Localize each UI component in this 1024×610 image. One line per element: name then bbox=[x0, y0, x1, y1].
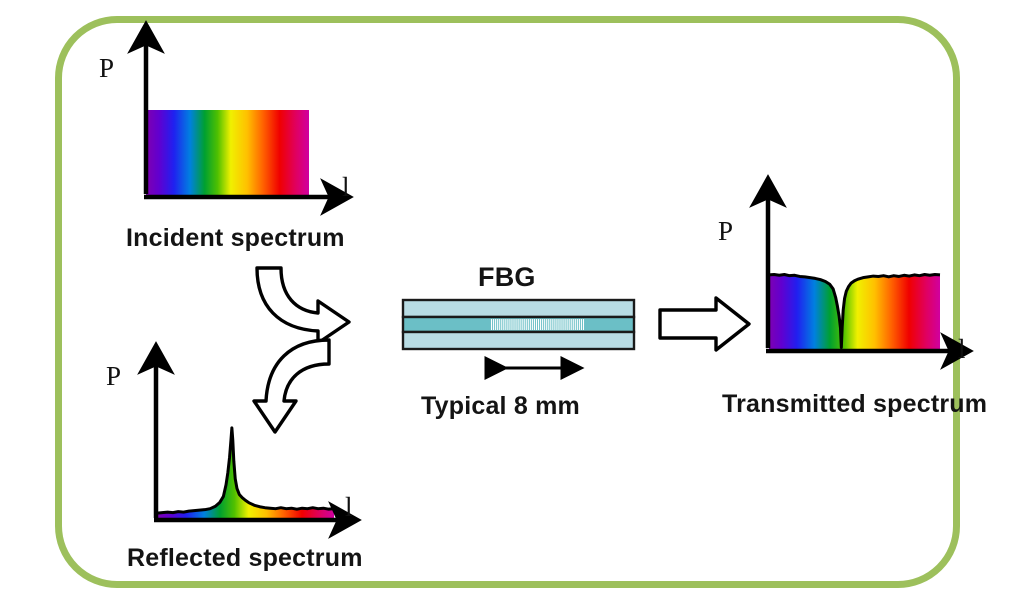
chart-incident-spectrum bbox=[144, 44, 330, 197]
reflected-power-axis-label: P bbox=[106, 361, 121, 392]
arrow-fbg-to-transmitted bbox=[660, 298, 749, 350]
grating-stripe bbox=[534, 319, 535, 330]
reflected-spectrum-curve bbox=[157, 428, 334, 513]
incident-wavelength-axis-label: l bbox=[342, 172, 350, 203]
grating-stripe bbox=[552, 319, 553, 330]
grating-stripe bbox=[573, 319, 574, 330]
transmitted-wavelength-axis-label: l bbox=[958, 334, 966, 365]
fbg-title-label: FBG bbox=[478, 262, 536, 293]
grating-stripe bbox=[583, 319, 584, 330]
grating-stripe bbox=[516, 319, 517, 330]
incident-power-axis-label: P bbox=[99, 53, 114, 84]
grating-stripe bbox=[522, 319, 523, 330]
grating-stripe bbox=[526, 319, 527, 330]
transmitted-power-axis-label: P bbox=[718, 216, 733, 247]
grating-stripe bbox=[493, 319, 494, 330]
grating-stripe bbox=[511, 319, 512, 330]
fbg-cladding-bottom bbox=[403, 332, 634, 349]
grating-stripe bbox=[505, 319, 506, 330]
fbg-length-label: Typical 8 mm bbox=[421, 392, 580, 421]
grating-stripe bbox=[540, 319, 541, 330]
grating-stripe bbox=[499, 319, 500, 330]
grating-stripe bbox=[558, 319, 559, 330]
grating-stripe bbox=[518, 319, 519, 330]
reflected-spectrum-label: Reflected spectrum bbox=[127, 544, 363, 573]
fbg-cladding-top bbox=[403, 300, 634, 317]
grating-stripe bbox=[536, 319, 537, 330]
grating-stripe bbox=[577, 319, 578, 330]
figure-canvas: P l Incident spectrum P l Reflected spec… bbox=[0, 0, 1024, 610]
grating-stripe bbox=[520, 319, 521, 330]
grating-stripe bbox=[542, 319, 543, 330]
grating-stripe bbox=[571, 319, 572, 330]
grating-stripe bbox=[501, 319, 502, 330]
grating-stripe bbox=[528, 319, 529, 330]
grating-stripe bbox=[550, 319, 551, 330]
reflected-spectrum-fill bbox=[156, 420, 334, 520]
grating-stripe bbox=[491, 319, 492, 330]
grating-stripe bbox=[546, 319, 547, 330]
grating-stripe bbox=[579, 319, 580, 330]
incident-spectrum-label: Incident spectrum bbox=[126, 224, 345, 253]
chart-transmitted-spectrum bbox=[766, 198, 950, 351]
diagram-graphics bbox=[0, 0, 1024, 610]
grating-stripe bbox=[530, 319, 531, 330]
reflected-wavelength-axis-label: l bbox=[345, 492, 353, 523]
grating-stripe bbox=[524, 319, 525, 330]
grating-stripe bbox=[563, 319, 564, 330]
incident-spectrum-area bbox=[146, 110, 309, 197]
grating-stripe bbox=[513, 319, 514, 330]
grating-stripe bbox=[497, 319, 498, 330]
grating-stripe bbox=[538, 319, 539, 330]
chart-reflected-spectrum bbox=[154, 365, 338, 520]
arrow-fbg-to-reflected bbox=[254, 340, 329, 432]
grating-stripe bbox=[544, 319, 545, 330]
grating-stripe bbox=[565, 319, 566, 330]
grating-stripe bbox=[569, 319, 570, 330]
transmitted-spectrum-label: Transmitted spectrum bbox=[722, 390, 987, 419]
grating-stripe bbox=[495, 319, 496, 330]
grating-stripe bbox=[581, 319, 582, 330]
grating-stripe bbox=[560, 319, 561, 330]
grating-stripe bbox=[509, 319, 510, 330]
grating-stripe bbox=[556, 319, 557, 330]
grating-stripe bbox=[575, 319, 576, 330]
grating-stripe bbox=[548, 319, 549, 330]
arrow-incident-to-fbg bbox=[257, 268, 349, 343]
grating-stripe bbox=[554, 319, 555, 330]
grating-stripe bbox=[532, 319, 533, 330]
grating-stripe bbox=[567, 319, 568, 330]
grating-stripe bbox=[503, 319, 504, 330]
grating-stripe bbox=[507, 319, 508, 330]
fbg-device bbox=[403, 300, 634, 368]
